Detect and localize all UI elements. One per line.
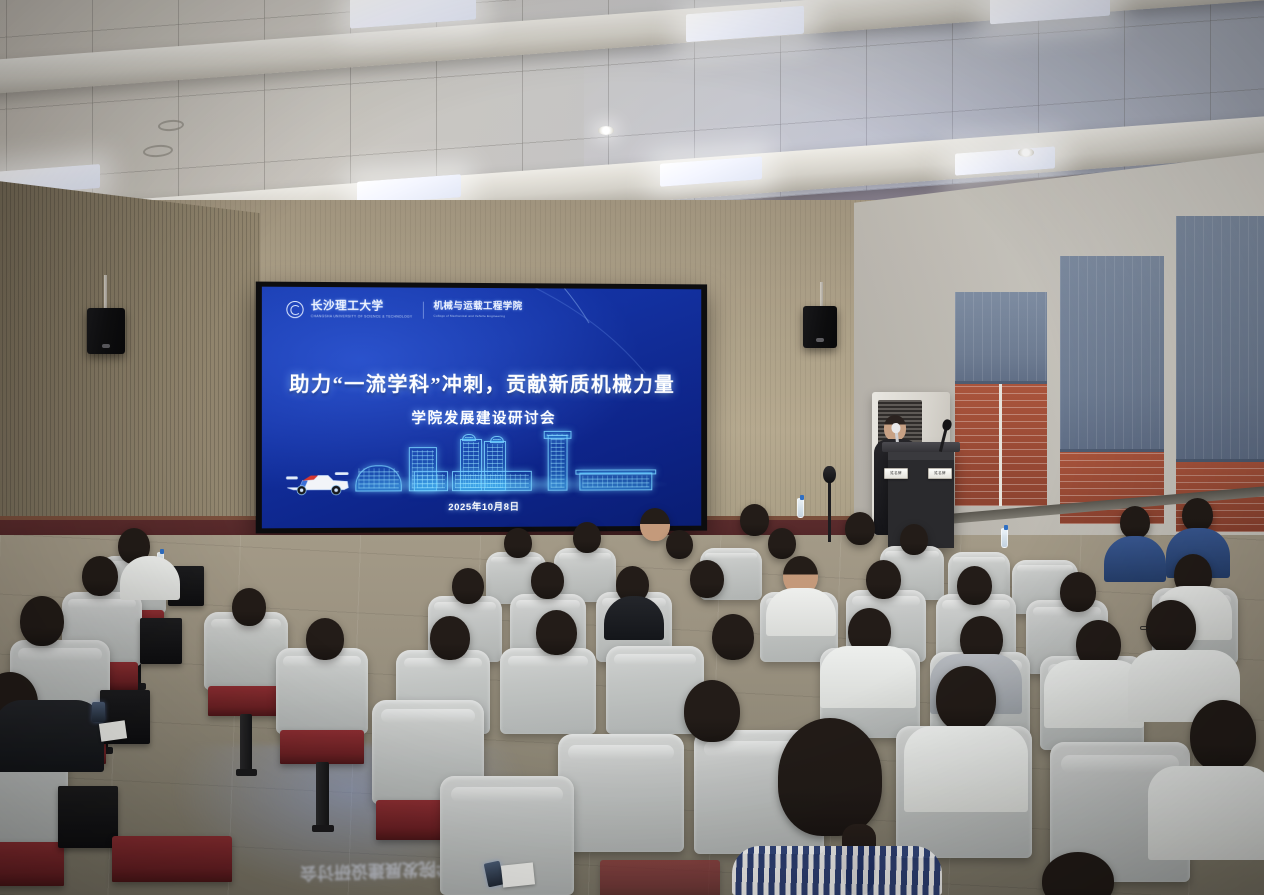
seat-side-panel [280, 730, 364, 764]
audience-shoulders [1148, 766, 1264, 860]
seat-side-panel [112, 836, 232, 882]
audience-head [740, 504, 769, 536]
building-library-base-icon [452, 471, 532, 491]
wall-speaker-right [803, 306, 837, 348]
building-library-crown-icon [490, 436, 504, 443]
logo-divider [422, 302, 423, 319]
seat[interactable] [558, 734, 684, 852]
audience-shoulders [0, 700, 104, 772]
window-mullion [999, 384, 1002, 506]
audience-head-ponytail [778, 718, 882, 836]
water-bottle [1001, 528, 1008, 548]
audience-head [1182, 498, 1213, 532]
audience-head [452, 568, 484, 604]
notepad [99, 720, 127, 741]
seat[interactable] [276, 648, 368, 734]
window-far [955, 292, 1047, 506]
building-annex-icon [414, 471, 448, 491]
audience-head [1146, 600, 1196, 654]
roller-blind[interactable] [1176, 216, 1264, 462]
striped-shirt-pattern [732, 846, 942, 895]
slide-subtitle: 学院发展建设研讨会 [262, 407, 701, 428]
led-wall-screen[interactable]: 长沙理工大学 CHANGSHA UNIVERSITY OF SCIENCE & … [256, 282, 707, 534]
tablet-arm-desk[interactable] [58, 786, 118, 848]
audience-head [957, 566, 992, 605]
seat-side-panel [600, 860, 720, 895]
audience-head [536, 610, 577, 655]
gate-tower-cap-icon [544, 431, 572, 439]
audience-head [936, 666, 996, 732]
audience-head [712, 614, 754, 660]
audience-head [768, 528, 796, 559]
audience-head [640, 508, 670, 541]
speaker-mount-rod [104, 275, 107, 311]
seat-side-panel [0, 842, 64, 886]
seat[interactable] [500, 648, 596, 734]
audience-shoulders [820, 646, 916, 708]
building-stadium-icon [355, 465, 401, 491]
slide-surface: 长沙理工大学 CHANGSHA UNIVERSITY OF SCIENCE & … [262, 287, 701, 529]
colonnade-icon [579, 472, 652, 490]
notepad [501, 862, 535, 887]
ceiling-downlight [1018, 148, 1034, 157]
audience-head [531, 562, 564, 599]
ceiling-downlight [598, 126, 614, 135]
audience-head [666, 530, 693, 559]
audience-shoulders [1104, 536, 1166, 582]
college-name-en: College of Mechanical and Vehicle Engine… [433, 315, 522, 318]
audience-head [900, 524, 928, 555]
lectern-top [882, 442, 960, 452]
audience-shoulders [766, 588, 836, 636]
speaker-mount-rod [820, 282, 823, 308]
auditorium-photo: 长沙理工大学 CHANGSHA UNIVERSITY OF SCIENCE & … [0, 0, 1264, 895]
nameplate-right: 姓名牌 [928, 468, 952, 479]
colonnade-roof-icon [575, 469, 656, 474]
seat-leg [316, 762, 329, 828]
audience-shoulders-striped [732, 846, 942, 895]
audience-head [306, 618, 344, 660]
college-name-block: 机械与运载工程学院 College of Mechanical and Vehi… [433, 303, 522, 318]
college-name-cn: 机械与运载工程学院 [433, 303, 522, 313]
window-near [1176, 216, 1264, 532]
audience-head [20, 596, 64, 646]
audience-head [430, 616, 470, 660]
water-bottle [797, 498, 804, 518]
slide-logo-lockup: 长沙理工大学 CHANGSHA UNIVERSITY OF SCIENCE & … [286, 301, 522, 319]
university-name-block: 长沙理工大学 CHANGSHA UNIVERSITY OF SCIENCE & … [311, 301, 413, 319]
audience-head [684, 680, 740, 742]
audience-shoulders [604, 596, 664, 640]
university-name-cn: 长沙理工大学 [311, 301, 413, 313]
window-middle [1060, 256, 1164, 524]
gate-tower-icon [548, 435, 568, 491]
wall-speaker-left [87, 308, 125, 354]
smartphone[interactable] [92, 702, 105, 722]
audience-shoulders [904, 726, 1028, 812]
exterior-brick-wall [1060, 452, 1164, 524]
formula-race-car-icon [284, 465, 351, 496]
audience-head [82, 556, 118, 596]
university-emblem-icon [286, 301, 303, 318]
audience-head [1190, 700, 1256, 772]
roller-blind[interactable] [955, 292, 1047, 384]
seat-side-panel [208, 686, 284, 716]
roller-blind[interactable] [1060, 256, 1164, 452]
audience-head [573, 522, 601, 553]
university-name-en: CHANGSHA UNIVERSITY OF SCIENCE & TECHNOL… [311, 315, 413, 319]
audience-head [232, 588, 266, 626]
audience-head [690, 560, 724, 598]
seat-leg [240, 714, 252, 772]
audience-head [504, 528, 532, 558]
window-glass [1060, 452, 1164, 524]
slide-title: 助力“一流学科”冲刺，贡献新质机械力量 [262, 368, 701, 398]
audience-head [866, 560, 901, 599]
building-library-crown-icon [462, 434, 476, 441]
slide-date: 2025年10月8日 [262, 498, 701, 514]
eyeglasses-icon [1140, 626, 1150, 630]
tablet-arm-desk[interactable] [140, 618, 182, 664]
audience-head [845, 512, 875, 545]
floor-reflected-slide-text: 学院发展建设研讨会 [300, 857, 454, 887]
nameplate-left: 姓名牌 [884, 468, 908, 479]
audience-head [1120, 506, 1150, 539]
audience-head [1060, 572, 1096, 612]
floor-microphone-stand [828, 480, 831, 542]
audience-shoulders [120, 556, 180, 600]
